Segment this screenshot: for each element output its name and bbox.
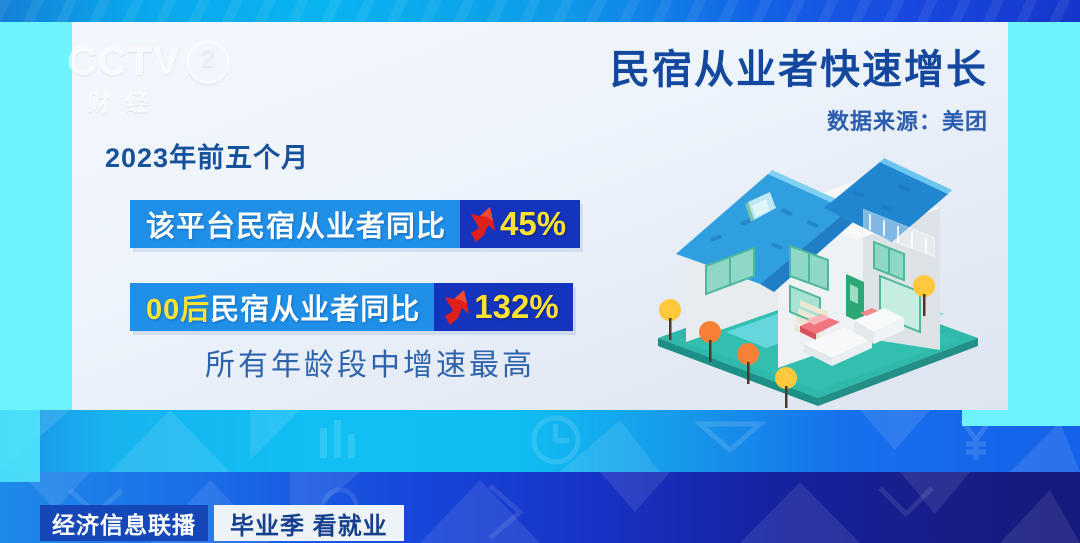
right-cyan-rail bbox=[1008, 22, 1080, 410]
caption-text: 所有年龄段中增速最高 bbox=[205, 340, 535, 384]
page-title: 民宿从业者快速增长 bbox=[610, 46, 988, 94]
left-cyan-rail bbox=[0, 22, 72, 410]
homestay-villa-illustration bbox=[648, 150, 988, 412]
stat-value-block: 132% bbox=[434, 283, 572, 331]
headline-block: 民宿从业者快速增长 数据来源：美团 bbox=[610, 46, 988, 136]
broadcast-screen: CCTV 2 财经 民宿从业者快速增长 数据来源：美团 2023年前五个月 该平… bbox=[0, 0, 1080, 543]
left-cyan-foot bbox=[0, 410, 40, 482]
data-source-label: 数据来源：美团 bbox=[610, 104, 988, 136]
top-decorative-strip bbox=[0, 0, 1080, 22]
stat-label-text: 该平台民宿从业者同比 bbox=[146, 203, 446, 245]
bottom-ticker: 经济信息联播 毕业季 看就业 bbox=[40, 505, 404, 541]
stat-value-block: 45% bbox=[460, 200, 580, 248]
stat-label-text: 民宿从业者同比 bbox=[210, 286, 420, 328]
period-label: 2023年前五个月 bbox=[105, 136, 309, 175]
stat-label: 00后民宿从业者同比 bbox=[130, 283, 434, 331]
stat-bar-platform-hosts: 该平台民宿从业者同比 45% bbox=[130, 200, 580, 248]
ticker-topic-label: 毕业季 看就业 bbox=[214, 505, 404, 541]
stat-bar-post2000-hosts: 00后民宿从业者同比 132% bbox=[130, 283, 573, 331]
stat-value-text: 132% bbox=[474, 288, 558, 326]
right-cyan-foot bbox=[962, 410, 1080, 426]
entrance-door bbox=[846, 274, 864, 324]
stat-label: 该平台民宿从业者同比 bbox=[130, 200, 460, 248]
up-arrow-icon bbox=[468, 205, 498, 243]
up-arrow-icon bbox=[442, 288, 472, 326]
band-upper-pattern bbox=[0, 410, 1080, 472]
ticker-program-name: 经济信息联播 bbox=[40, 505, 208, 541]
band-upper-row bbox=[0, 410, 1080, 472]
stat-value-text: 45% bbox=[500, 205, 566, 243]
stat-label-highlight: 00后 bbox=[146, 286, 210, 328]
